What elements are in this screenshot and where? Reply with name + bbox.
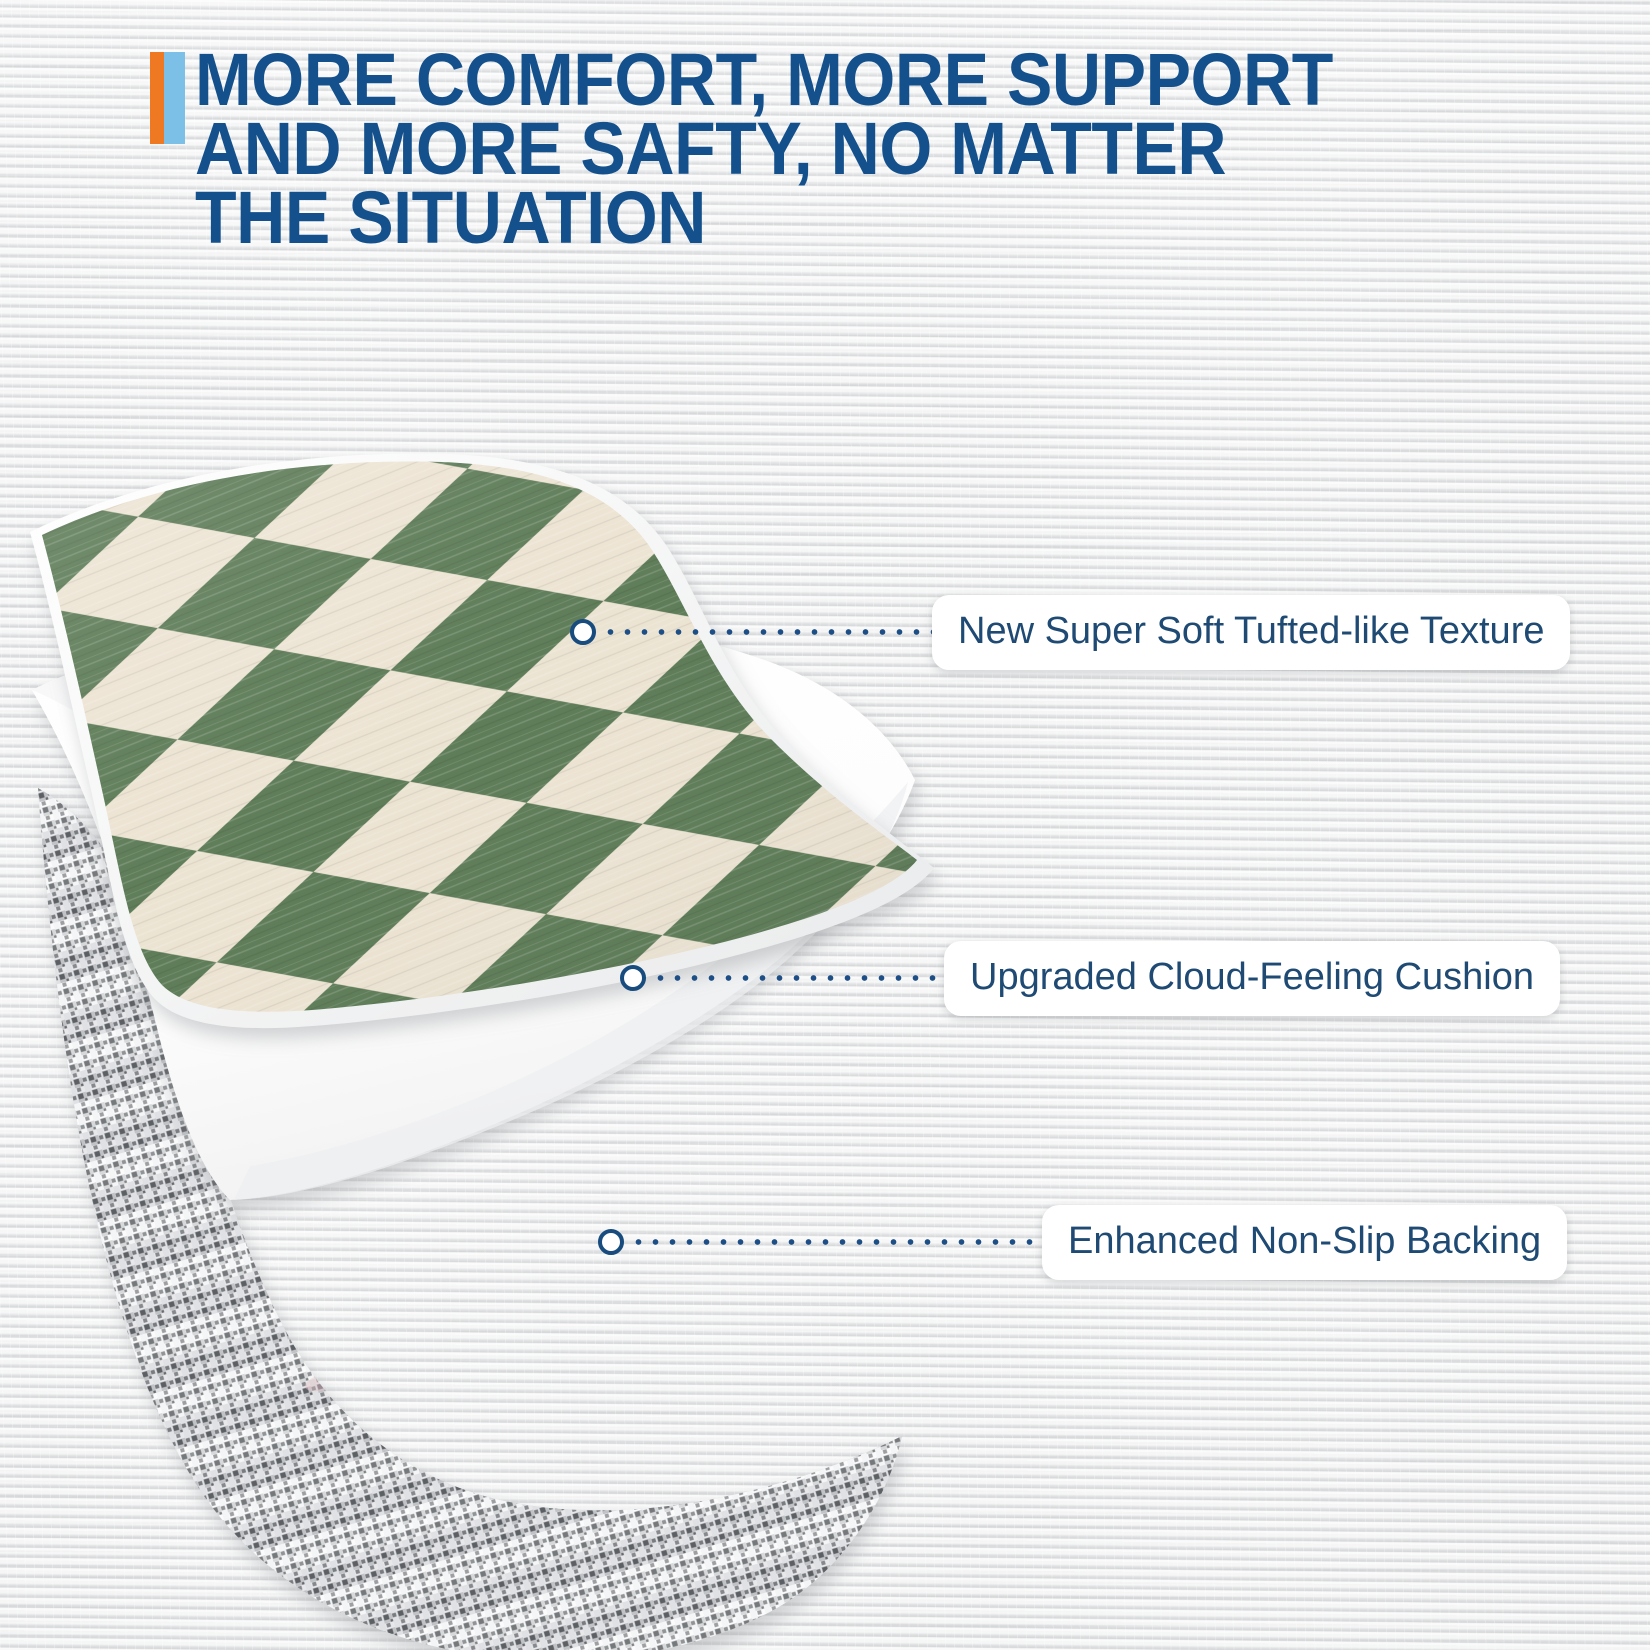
callout-marker-icon — [598, 1229, 624, 1255]
callout-marker-icon — [620, 965, 646, 991]
page-title: MORE COMFORT, MORE SUPPORT AND MORE SAFT… — [195, 46, 1350, 252]
accent-bar-blue — [164, 52, 185, 144]
callout-marker-icon — [570, 619, 596, 645]
product-layer-illustration — [0, 430, 1000, 1450]
callout-upgraded-cloud-feeling-cushion[interactable]: Upgraded Cloud-Feeling Cushion — [620, 948, 1560, 1008]
accent-bar-orange — [150, 52, 164, 144]
callout-leader-line — [602, 629, 936, 635]
callout-label: New Super Soft Tufted-like Texture — [932, 595, 1570, 670]
callout-leader-line — [630, 1239, 1046, 1245]
callout-label: Enhanced Non-Slip Backing — [1042, 1205, 1567, 1280]
callout-label: Upgraded Cloud-Feeling Cushion — [944, 941, 1560, 1016]
callout-new-super-soft-tufted-like-texture[interactable]: New Super Soft Tufted-like Texture — [570, 602, 1570, 662]
callout-leader-line — [652, 975, 948, 981]
headline-block: MORE COMFORT, MORE SUPPORT AND MORE SAFT… — [150, 46, 1450, 252]
callout-enhanced-non-slip-backing[interactable]: Enhanced Non-Slip Backing — [598, 1212, 1567, 1272]
infographic-page: MORE COMFORT, MORE SUPPORT AND MORE SAFT… — [0, 0, 1650, 1650]
accent-bar-group — [150, 52, 185, 144]
